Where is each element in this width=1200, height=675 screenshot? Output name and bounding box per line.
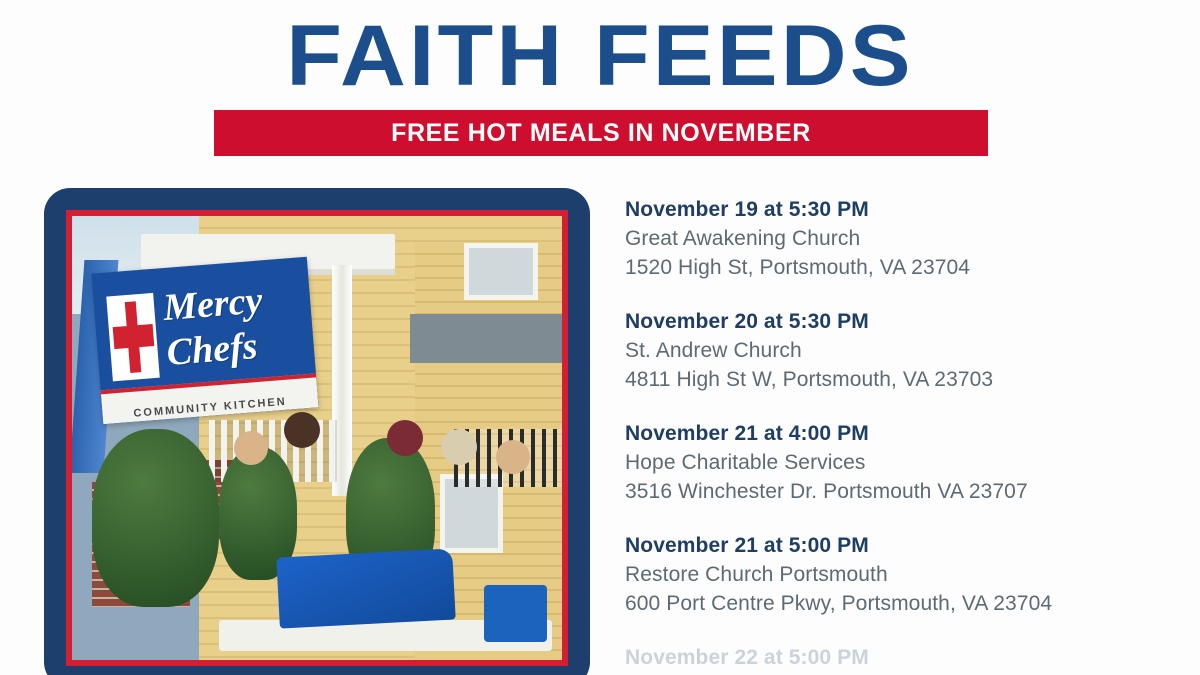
subtitle-text: FREE HOT MEALS IN NOVEMBER	[391, 119, 811, 148]
mercy-chefs-banner: Mercy Chefs COMMUNITY KITCHEN	[91, 257, 318, 424]
event-date: November 19 at 5:30 PM	[625, 195, 1170, 224]
volunteer-2	[278, 434, 327, 629]
banner-word-mercy: Mercy	[161, 281, 263, 327]
flyer-header: FAITH FEEDS FREE HOT MEALS IN NOVEMBER	[0, 0, 1200, 170]
cross-horizontal	[112, 323, 153, 348]
event-address: 1520 High St, Portsmouth, VA 23704	[625, 253, 1170, 282]
faith-feeds-flyer: FAITH FEEDS FREE HOT MEALS IN NOVEMBER	[0, 0, 1200, 675]
blue-cooler	[484, 585, 548, 643]
subtitle-banner: FREE HOT MEALS IN NOVEMBER	[214, 110, 988, 156]
event-address: 3516 Winchester Dr. Portsmouth VA 23707	[625, 477, 1170, 506]
event-date: November 21 at 5:00 PM	[625, 531, 1170, 560]
volunteer-4	[435, 451, 484, 629]
volunteer-head	[284, 412, 320, 448]
photo-frame: Mercy Chefs COMMUNITY KITCHEN	[44, 188, 590, 675]
volunteer-head	[496, 440, 530, 474]
event-item: November 21 at 4:00 PM Hope Charitable S…	[625, 419, 1170, 506]
volunteer-1	[229, 451, 273, 629]
volunteer-head	[387, 420, 423, 456]
photo-inner-border: Mercy Chefs COMMUNITY KITCHEN	[66, 210, 568, 666]
window-upper	[464, 243, 538, 301]
roof-gable	[410, 314, 562, 363]
event-item: November 20 at 5:30 PM St. Andrew Church…	[625, 307, 1170, 394]
volunteer-head	[234, 431, 268, 465]
event-venue: St. Andrew Church	[625, 336, 1170, 365]
event-address: 600 Port Centre Pkwy, Portsmouth, VA 237…	[625, 589, 1170, 618]
event-item: November 21 at 5:00 PM Restore Church Po…	[625, 531, 1170, 618]
event-date: November 22 at 5:00 PM	[625, 643, 1170, 672]
volunteer-head	[441, 429, 477, 465]
event-date: November 21 at 4:00 PM	[625, 419, 1170, 448]
event-date: November 20 at 5:30 PM	[625, 307, 1170, 336]
shrub-left	[92, 429, 219, 607]
event-photo: Mercy Chefs COMMUNITY KITCHEN	[72, 216, 562, 660]
event-venue: Hope Charitable Services	[625, 448, 1170, 477]
event-venue: Great Awakening Church	[625, 224, 1170, 253]
cross-logo-icon	[106, 293, 160, 381]
event-list: November 19 at 5:30 PM Great Awakening C…	[625, 195, 1170, 672]
event-address: 4811 High St W, Portsmouth, VA 23703	[625, 365, 1170, 394]
event-item: November 19 at 5:30 PM Great Awakening C…	[625, 195, 1170, 282]
page-title: FAITH FEEDS	[0, 8, 1200, 104]
event-item-clipped: November 22 at 5:00 PM	[625, 643, 1170, 672]
banner-word-chefs: Chefs	[165, 327, 258, 372]
volunteer-3	[381, 442, 430, 628]
event-venue: Restore Church Portsmouth	[625, 560, 1170, 589]
